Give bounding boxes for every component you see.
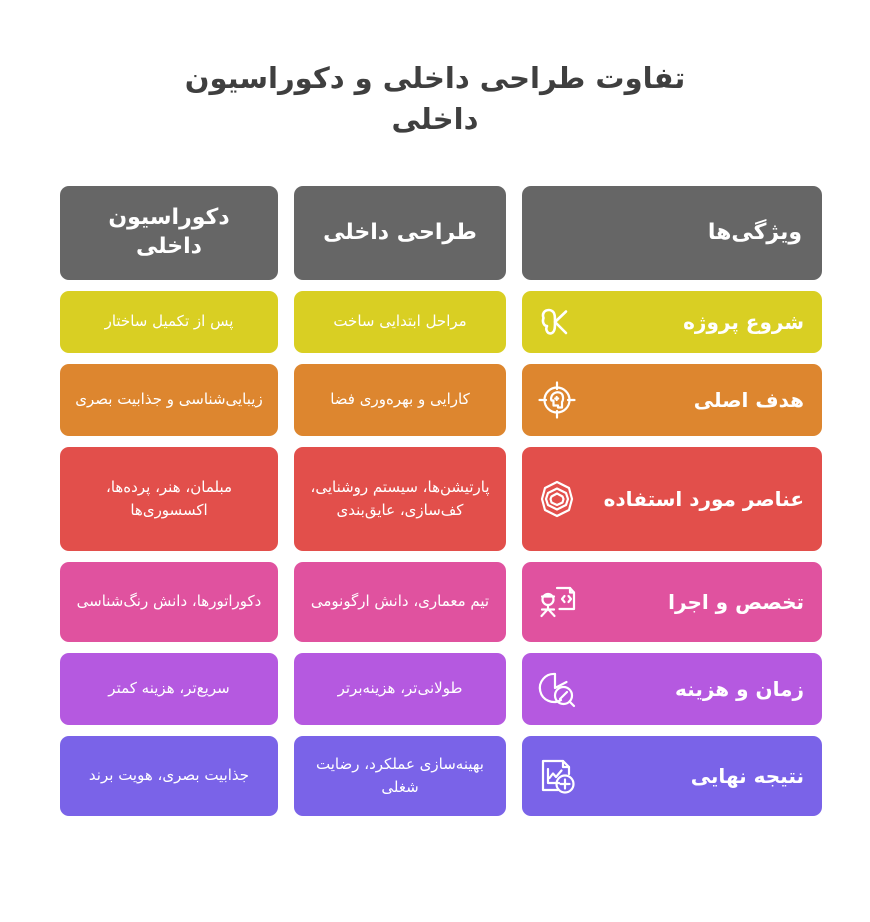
design-text: بهینه‌سازی عملکرد، رضایت شغلی <box>306 753 494 800</box>
design-cell: طولانی‌تر، هزینه‌برتر <box>294 653 506 725</box>
decor-text: پس از تکمیل ساختار <box>72 310 266 333</box>
design-text: تیم معماری، دانش ارگونومی <box>306 590 494 613</box>
design-text: طولانی‌تر، هزینه‌برتر <box>306 677 494 700</box>
decor-text: مبلمان، هنر، پرده‌ها، اکسسوری‌ها <box>72 476 266 523</box>
decor-text: دکوراتورها، دانش رنگ‌شناسی <box>72 590 266 613</box>
page-title-text: تفاوت طراحی داخلی و دکوراسیون داخلی <box>150 58 720 140</box>
table-row: عناصر مورد استفاده پارتیشن‌ها، سیستم روش… <box>48 447 822 551</box>
table-row: زمان و هزینه طولانی‌تر، هزینه‌برتر سریع‌… <box>48 653 822 725</box>
feature-cell: عناصر مورد استفاده <box>522 447 822 551</box>
feature-label: شروع پروژه <box>590 309 804 335</box>
decor-text: جذابیت بصری، هویت برند <box>72 764 266 787</box>
design-cell: پارتیشن‌ها، سیستم روشنایی، کف‌سازی، عایق… <box>294 447 506 551</box>
nested-hexagon-icon <box>536 478 578 520</box>
design-text: مراحل ابتدایی ساخت <box>306 310 494 333</box>
feature-cell: زمان و هزینه <box>522 653 822 725</box>
decor-cell: سریع‌تر، هزینه کمتر <box>60 653 278 725</box>
feature-label: نتیجه نهایی <box>590 763 804 789</box>
decor-cell: مبلمان، هنر، پرده‌ها، اکسسوری‌ها <box>60 447 278 551</box>
header-label-design: طراحی داخلی <box>306 219 494 248</box>
design-cell: تیم معماری، دانش ارگونومی <box>294 562 506 642</box>
feature-label: زمان و هزینه <box>590 676 804 702</box>
header-label-decor: دکوراسیون داخلی <box>72 204 266 261</box>
design-text: کارایی و بهره‌وری فضا <box>306 388 494 411</box>
design-text: پارتیشن‌ها، سیستم روشنایی، کف‌سازی، عایق… <box>306 476 494 523</box>
feature-cell: تخصص و اجرا <box>522 562 822 642</box>
report-add-icon <box>536 755 578 797</box>
pie-chart-search-icon <box>536 668 578 710</box>
feature-label: هدف اصلی <box>590 387 804 413</box>
design-cell: مراحل ابتدایی ساخت <box>294 291 506 353</box>
feature-cell: نتیجه نهایی <box>522 736 822 816</box>
header-cell-feature: ویژگی‌ها <box>522 186 822 280</box>
header-cell-design: طراحی داخلی <box>294 186 506 280</box>
target-head-icon <box>536 379 578 421</box>
feature-label: تخصص و اجرا <box>590 589 804 615</box>
comparison-table: ویژگی‌ها طراحی داخلی دکوراسیون داخلی شرو… <box>48 186 822 816</box>
table-row: شروع پروژه مراحل ابتدایی ساخت پس از تکمی… <box>48 291 822 353</box>
feature-cell: شروع پروژه <box>522 291 822 353</box>
decor-text: زیبایی‌شناسی و جذابیت بصری <box>72 388 266 411</box>
table-row: هدف اصلی کارایی و بهره‌وری فضا زیبایی‌شن… <box>48 364 822 436</box>
table-row: تخصص و اجرا تیم معماری، دانش ارگونومی دک… <box>48 562 822 642</box>
header-cell-decor: دکوراسیون داخلی <box>60 186 278 280</box>
decor-cell: دکوراتورها، دانش رنگ‌شناسی <box>60 562 278 642</box>
engineer-document-icon <box>536 581 578 623</box>
table-row: نتیجه نهایی بهینه‌سازی عملکرد، رضایت شغل… <box>48 736 822 816</box>
header-label-feature: ویژگی‌ها <box>536 219 802 248</box>
infographic-page: تفاوت طراحی داخلی و دکوراسیون داخلی ویژگ… <box>0 0 870 922</box>
feature-label: عناصر مورد استفاده <box>590 486 804 512</box>
feature-cell: هدف اصلی <box>522 364 822 436</box>
page-title: تفاوت طراحی داخلی و دکوراسیون داخلی <box>0 58 870 140</box>
design-cell: بهینه‌سازی عملکرد، رضایت شغلی <box>294 736 506 816</box>
decor-cell: پس از تکمیل ساختار <box>60 291 278 353</box>
decor-cell: زیبایی‌شناسی و جذابیت بصری <box>60 364 278 436</box>
table-header-row: ویژگی‌ها طراحی داخلی دکوراسیون داخلی <box>48 186 822 280</box>
bookmark-flag-icon <box>536 301 578 343</box>
decor-cell: جذابیت بصری، هویت برند <box>60 736 278 816</box>
decor-text: سریع‌تر، هزینه کمتر <box>72 677 266 700</box>
design-cell: کارایی و بهره‌وری فضا <box>294 364 506 436</box>
